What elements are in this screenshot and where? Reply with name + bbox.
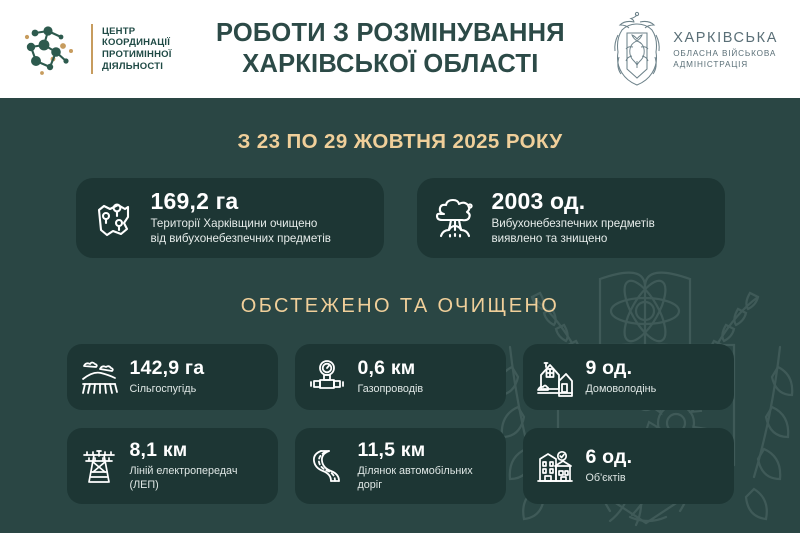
stat-value: 8,1 км (130, 440, 266, 460)
highlight-label-line-2: виявлено та знищено (492, 232, 655, 247)
highlight-label-line-1: Території Харківщини очищено (151, 217, 331, 232)
explosion-cloud-icon (431, 194, 479, 242)
stat-value: 9 од. (586, 358, 657, 378)
stat-label: Газопроводів (358, 382, 424, 396)
ova-line-1: ХАРКІВСЬКА (673, 30, 778, 46)
stat-card-households: 9 од. Домоволодінь (523, 344, 734, 410)
cmc-line-4: ДІЯЛЬНОСТІ (102, 61, 172, 73)
highlight-value: 2003 од. (492, 189, 655, 213)
stat-label: Ділянок автомобільних доріг (358, 464, 494, 492)
stat-card-text: 11,5 км Ділянок автомобільних доріг (358, 440, 494, 492)
highlight-card-text: 2003 од. Вибухонебезпечних предметів вия… (492, 189, 655, 247)
highlight-card-text: 169,2 га Території Харківщини очищено ві… (151, 189, 331, 247)
ova-line-3: АДМІНІСТРАЦІЯ (673, 60, 778, 69)
stat-card-text: 8,1 км Ліній електропередач (ЛЕП) (130, 440, 266, 492)
stat-label: Ліній електропередач (ЛЕП) (130, 464, 266, 492)
cmc-line-2: КООРДИНАЦІЇ (102, 37, 172, 49)
kharkiv-ova-text: ХАРКІВСЬКА ОБЛАСНА ВІЙСЬКОВА АДМІНІСТРАЦ… (673, 30, 778, 69)
building-check-icon (535, 446, 575, 486)
stat-card-text: 9 од. Домоволодінь (586, 358, 657, 396)
page-header: ЦЕНТР КООРДИНАЦІЇ ПРОТИМІННОЇ ДІЯЛЬНОСТІ… (0, 0, 800, 98)
highlight-label: Території Харківщини очищено від вибухон… (151, 217, 331, 247)
highlight-cards: 169,2 га Території Харківщини очищено ві… (0, 178, 800, 258)
stat-card-farmland: 142,9 га Сільгоспугідь (67, 344, 278, 410)
stat-label: Домоволодінь (586, 382, 657, 396)
infographic-page: ЦЕНТР КООРДИНАЦІЇ ПРОТИМІННОЇ ДІЯЛЬНОСТІ… (0, 0, 800, 533)
cmc-logo: ЦЕНТР КООРДИНАЦІЇ ПРОТИМІННОЇ ДІЯЛЬНОСТІ (22, 21, 172, 77)
stat-label: Об'єктів (586, 471, 633, 485)
surveyed-cleared-grid: 142,9 га Сільгоспугідь (0, 344, 800, 504)
cmc-line-3: ПРОТИМІННОЇ (102, 49, 172, 61)
page-title-line-2: ХАРКІВСЬКОЇ ОБЛАСТІ (176, 49, 606, 80)
highlight-label: Вибухонебезпечних предметів виявлено та … (492, 217, 655, 247)
highlight-card-devices-destroyed: 2003 од. Вибухонебезпечних предметів вия… (417, 178, 725, 258)
stat-value: 142,9 га (130, 358, 205, 378)
logo-divider (91, 24, 93, 74)
section-title: ОБСТЕЖЕНО ТА ОЧИЩЕНО (0, 295, 800, 318)
stat-label: Сільгоспугідь (130, 382, 205, 396)
highlight-card-area-cleared: 169,2 га Території Харківщини очищено ві… (76, 178, 384, 258)
stat-card-text: 0,6 км Газопроводів (358, 358, 424, 396)
stat-value: 11,5 км (358, 440, 494, 460)
map-pins-icon (90, 194, 138, 242)
farmland-icon (79, 357, 119, 397)
stat-card-text: 142,9 га Сільгоспугідь (130, 358, 205, 396)
ova-line-2: ОБЛАСНА ВІЙСЬКОВА (673, 49, 778, 58)
power-tower-icon (79, 446, 119, 486)
winding-road-icon (307, 446, 347, 486)
stat-value: 0,6 км (358, 358, 424, 378)
reporting-period: З 23 ПО 29 ЖОВТНЯ 2025 РОКУ (0, 130, 800, 154)
stat-card-roads: 11,5 км Ділянок автомобільних доріг (295, 428, 506, 504)
page-title: РОБОТИ З РОЗМІНУВАННЯ ХАРКІВСЬКОЇ ОБЛАСТ… (172, 18, 610, 80)
page-title-line-1: РОБОТИ З РОЗМІНУВАННЯ (176, 18, 606, 49)
gas-pipeline-icon (307, 357, 347, 397)
kharkiv-ova-logo: ХАРКІВСЬКА ОБЛАСНА ВІЙСЬКОВА АДМІНІСТРАЦ… (609, 11, 778, 87)
highlight-label-line-1: Вибухонебезпечних предметів (492, 217, 655, 232)
stat-card-text: 6 од. Об'єктів (586, 447, 633, 485)
stat-card-gas-pipelines: 0,6 км Газопроводів (295, 344, 506, 410)
highlight-value: 169,2 га (151, 189, 331, 213)
main-content: З 23 ПО 29 ЖОВТНЯ 2025 РОКУ (0, 130, 800, 504)
highlight-label-line-2: від вибухонебезпечних предметів (151, 232, 331, 247)
kharkiv-coat-of-arms-icon (609, 11, 665, 87)
stat-card-power-lines: 8,1 км Ліній електропередач (ЛЕП) (67, 428, 278, 504)
molecule-network-icon (22, 21, 82, 77)
cmc-line-1: ЦЕНТР (102, 26, 172, 38)
stat-value: 6 од. (586, 447, 633, 467)
stat-card-objects: 6 од. Об'єктів (523, 428, 734, 504)
cmc-logo-text: ЦЕНТР КООРДИНАЦІЇ ПРОТИМІННОЇ ДІЯЛЬНОСТІ (102, 26, 172, 73)
house-icon (535, 357, 575, 397)
